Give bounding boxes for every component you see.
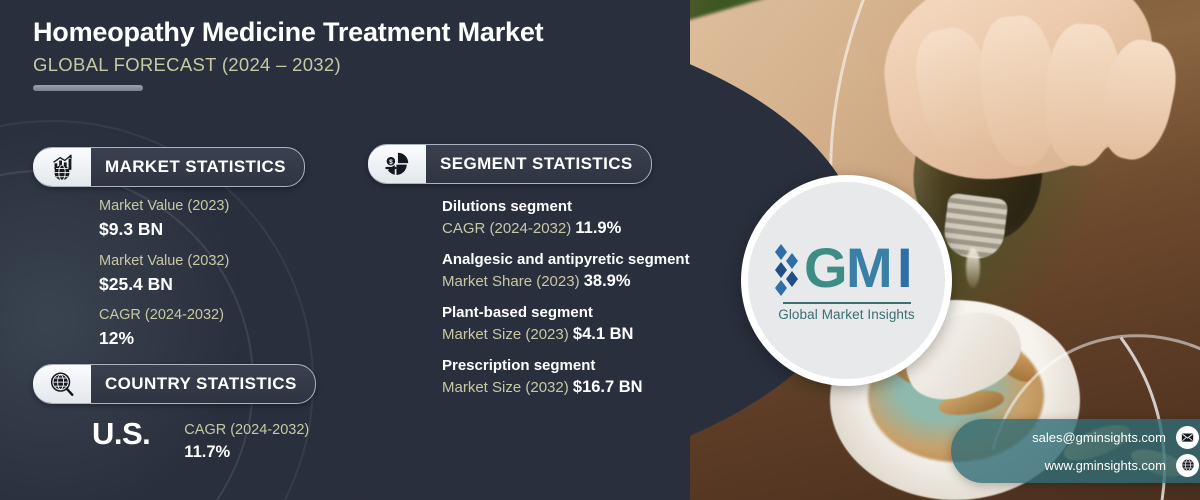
market-stat-value: $25.4 BN [99, 272, 359, 297]
segment-item: Analgesic and antipyretic segment Market… [442, 250, 697, 293]
segment-metric-label: CAGR (2024-2032) [442, 220, 571, 237]
segment-statistics-badge: $ SEGMENT STATISTICS [368, 144, 652, 184]
diamond-icon [772, 240, 802, 298]
segment-metric-value: 38.9% [584, 272, 631, 290]
header: Homeopathy Medicine Treatment Market GLO… [33, 16, 713, 91]
contact-email[interactable]: sales@gminsights.com [961, 430, 1176, 445]
infographic-banner: Homeopathy Medicine Treatment Market GLO… [0, 0, 1200, 500]
svg-text:G: G [804, 239, 848, 299]
page-title: Homeopathy Medicine Treatment Market [33, 16, 713, 48]
market-statistics-label: MARKET STATISTICS [105, 157, 286, 177]
segment-metric-value: $4.1 BN [573, 325, 634, 343]
globe-icon [1176, 454, 1199, 477]
contact-panel: sales@gminsights.com www.gminsights.com [951, 419, 1200, 483]
segment-item: Prescription segment Market Size (2032) … [442, 356, 697, 399]
segment-name: Dilutions segment [442, 197, 697, 217]
envelope-icon [1176, 426, 1199, 449]
market-stat-label: Market Value (2023) [99, 196, 359, 217]
market-stat-value: 12% [99, 326, 359, 351]
segment-name: Prescription segment [442, 356, 697, 376]
segment-name: Plant-based segment [442, 303, 697, 323]
segment-item: Plant-based segment Market Size (2023) $… [442, 303, 697, 346]
country-name: U.S. [92, 418, 150, 449]
country-metric-label: CAGR (2024-2032) [184, 420, 309, 441]
gmi-letters: G M I [804, 239, 922, 299]
svg-text:I: I [897, 239, 913, 299]
country-statistics-row: U.S. CAGR (2024-2032) 11.7% [92, 418, 309, 464]
market-stat-value: $9.3 BN [99, 217, 359, 242]
logo-mark: G M I [772, 239, 922, 299]
svg-text:M: M [846, 239, 893, 299]
segment-metric: CAGR (2024-2032) 11.9% [442, 217, 697, 240]
market-statistics-list: Market Value (2023) $9.3 BN Market Value… [99, 196, 359, 360]
market-stat-label: Market Value (2032) [99, 251, 359, 272]
country-statistics-label: COUNTRY STATISTICS [105, 374, 297, 394]
gmi-logo: G M I Global Market Insights [741, 175, 952, 386]
country-metric-value: 11.7% [184, 441, 309, 464]
segment-metric: Market Size (2023) $4.1 BN [442, 323, 697, 346]
page-subtitle: GLOBAL FORECAST (2024 – 2032) [33, 54, 713, 76]
pie-dollar-icon: $ [368, 145, 426, 183]
market-statistics-badge: MARKET STATISTICS [33, 147, 305, 187]
contact-email-row[interactable]: sales@gminsights.com [961, 423, 1200, 451]
segment-statistics-label: SEGMENT STATISTICS [440, 154, 633, 174]
segment-statistics-list: Dilutions segment CAGR (2024-2032) 11.9%… [442, 197, 697, 409]
logo-tagline: Global Market Insights [778, 307, 915, 322]
market-stat-label: CAGR (2024-2032) [99, 305, 359, 326]
globe-chart-icon [33, 148, 91, 186]
segment-metric-label: Market Size (2023) [442, 326, 569, 343]
svg-text:$: $ [389, 159, 393, 166]
segment-name: Analgesic and antipyretic segment [442, 250, 697, 270]
contact-website[interactable]: www.gminsights.com [961, 458, 1176, 473]
title-underline [33, 85, 143, 91]
segment-metric-value: 11.9% [575, 219, 621, 237]
segment-item: Dilutions segment CAGR (2024-2032) 11.9% [442, 197, 697, 240]
segment-metric-value: $16.7 BN [573, 378, 643, 396]
segment-metric-label: Market Share (2023) [442, 273, 580, 290]
country-statistics-badge: COUNTRY STATISTICS [33, 364, 316, 404]
globe-search-icon [33, 365, 91, 403]
logo-divider [783, 302, 911, 304]
contact-website-row[interactable]: www.gminsights.com [961, 451, 1200, 479]
segment-metric: Market Size (2032) $16.7 BN [442, 376, 697, 399]
country-metric: CAGR (2024-2032) 11.7% [184, 418, 309, 464]
segment-metric: Market Share (2023) 38.9% [442, 270, 697, 293]
segment-metric-label: Market Size (2032) [442, 379, 569, 396]
